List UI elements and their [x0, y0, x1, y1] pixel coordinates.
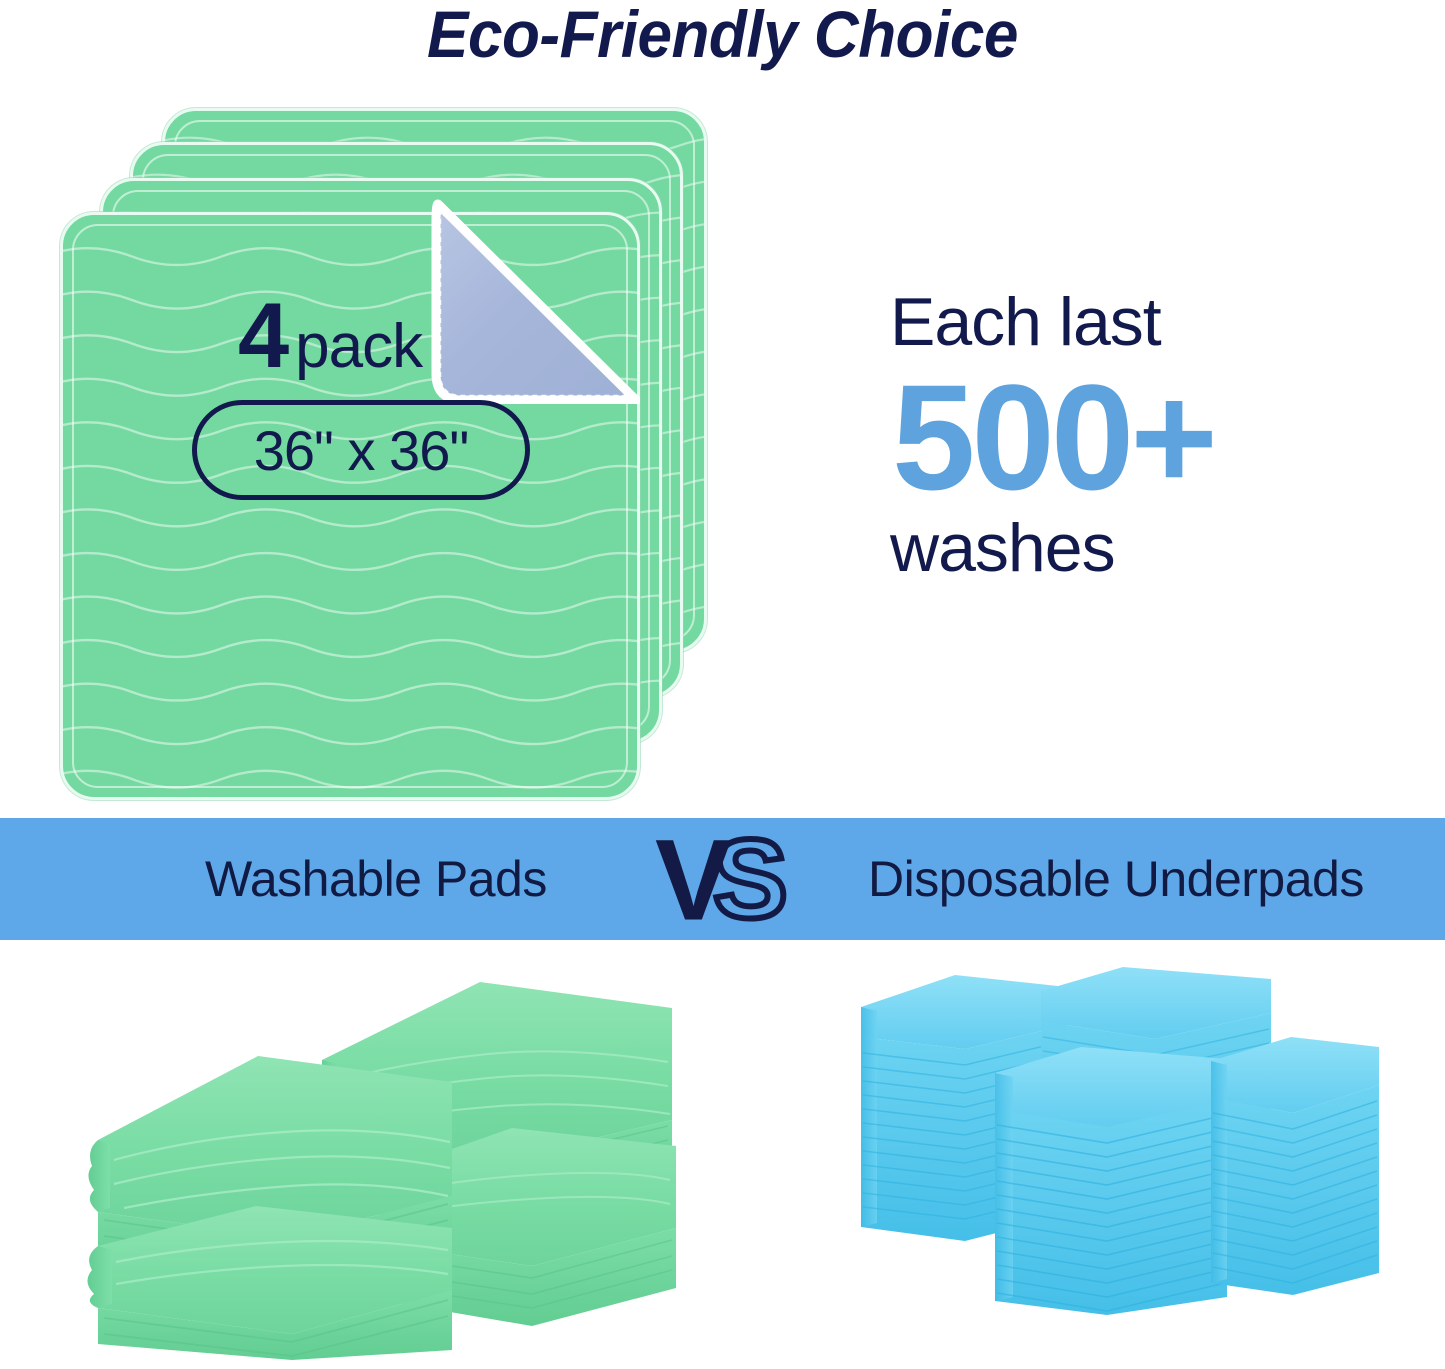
folded-washable-pads-photo [80, 960, 700, 1360]
size-badge-label: 36" x 36" [254, 418, 468, 483]
comparison-label-washable: Washable Pads [205, 850, 547, 908]
stat-unit-text: washes [890, 514, 1360, 582]
comparison-label-disposable: Disposable Underpads [868, 850, 1364, 908]
stat-lead-text: Each last [890, 288, 1360, 356]
page-title: Eco-Friendly Choice [43, 0, 1401, 72]
underpad-column-front-right [1211, 1037, 1379, 1295]
pack-count-word: pack [295, 312, 422, 381]
washes-stat-block: Each last 500+ washes [890, 288, 1360, 582]
pack-count-line: 4pack [150, 290, 570, 382]
stat-number-value: 500+ [892, 362, 1360, 512]
pad-overlay-text: 4pack 36" x 36" [150, 290, 570, 500]
product-infographic: Eco-Friendly Choice [0, 0, 1445, 1369]
disposable-underpads-photo [855, 965, 1385, 1315]
svg-text:S: S [713, 822, 788, 937]
underpad-column-front-left [995, 1047, 1227, 1315]
pack-count-value: 4 [238, 285, 287, 387]
vs-icon: V S [655, 822, 820, 937]
comparison-banner: Washable Pads V S Disposable Underpads [0, 818, 1445, 940]
size-badge: 36" x 36" [192, 400, 530, 500]
